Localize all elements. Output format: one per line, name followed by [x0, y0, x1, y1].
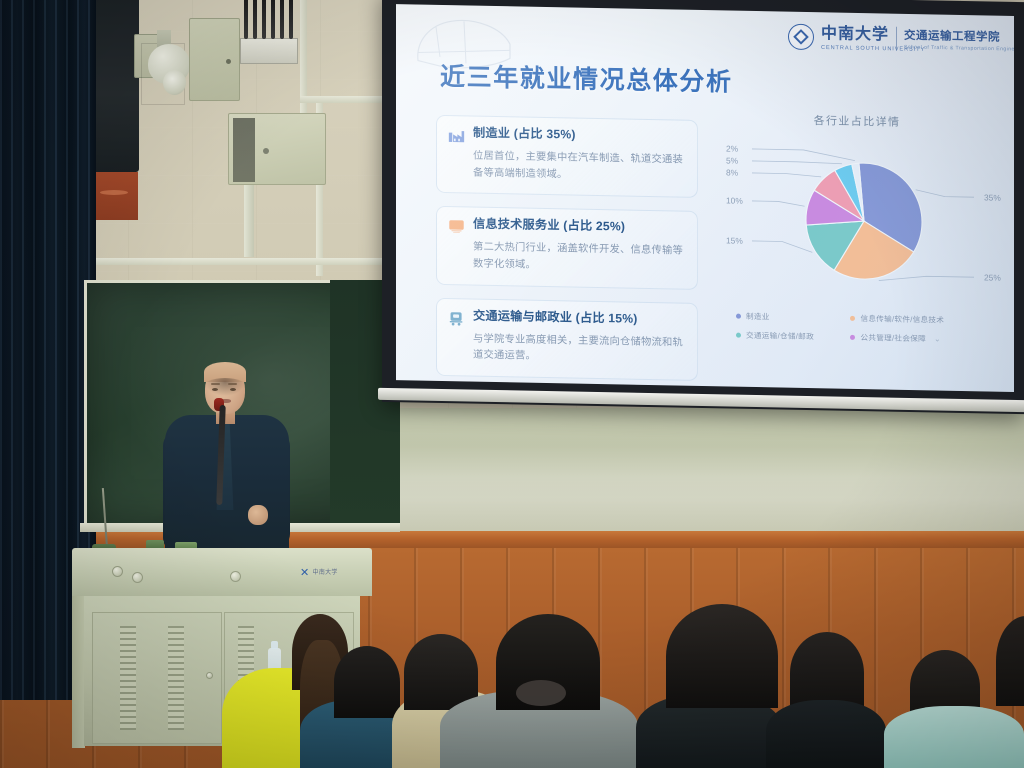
industry-card-list: 制造业 (占比 35%) 位居首位，主要集中在汽车制造、轨道交通装备等高端制造领…: [436, 115, 698, 392]
presenter-eye: [212, 388, 218, 391]
wall-speaker-cabinet: [92, 0, 139, 172]
logo-university-cn: 中南大学: [821, 26, 889, 44]
lecture-hall-scene: 中南大学 CENTRAL SOUTH UNIVERSITY 交通运输工程学院 S…: [0, 0, 1024, 768]
slide-title: 近三年就业情况总体分析: [440, 57, 733, 99]
presenter-eyebrow: [228, 383, 237, 385]
csu-emblem-icon: [788, 24, 814, 50]
latch-icon: [263, 148, 269, 154]
industry-card-desc: 第二大热门行业，涵盖软件开发、信息传输等数字化领域。: [473, 240, 686, 277]
antenna-icon: [262, 0, 266, 39]
monitor-icon: [448, 218, 465, 234]
pie-leader-line: [752, 201, 805, 206]
audience-member-neck: [516, 680, 566, 706]
industry-card[interactable]: 信息技术服务业 (占比 25%) 第二大热门行业，涵盖软件开发、信息传输等数字化…: [436, 206, 698, 289]
pie-leader-line: [752, 173, 821, 177]
pie-leader-line: [879, 275, 974, 282]
wall-frame-vertical: [300, 0, 307, 122]
chevron-down-icon[interactable]: ⌄: [934, 334, 941, 343]
pie-value-label: 5%: [726, 155, 739, 165]
conduit-pipe: [244, 185, 254, 257]
podium-knob[interactable]: [230, 571, 241, 582]
pie-leader-line: [752, 161, 842, 164]
wall-frame-horizontal: [84, 258, 414, 265]
audience-member-head: [404, 634, 478, 710]
pie-value-label: 8%: [726, 167, 739, 177]
industry-card-title: 信息技术服务业 (占比 25%): [473, 217, 625, 235]
pie-chart-svg: 35%25%15%10%8%5%2%: [712, 130, 1002, 318]
antenna-icon: [271, 0, 275, 39]
chart-title: 各行业占比详情: [712, 110, 1002, 132]
logo-school-cn: 交通运输工程学院: [904, 30, 1000, 44]
presenter-eyebrow: [211, 383, 220, 385]
legend-color-swatch: [736, 314, 741, 319]
industry-pie-chart: 各行业占比详情 35%25%15%10%8%5%2% 制造业信息传输/软件/信息…: [712, 110, 1002, 348]
legend-item[interactable]: 信息传输/软件/信息技术: [850, 313, 986, 327]
factory-icon: [448, 127, 465, 143]
podium-door-handle[interactable]: [206, 672, 213, 679]
audience-member-body: [766, 700, 886, 768]
pie-value-label: 10%: [726, 195, 743, 205]
pie-leader-line: [752, 241, 812, 252]
industry-card-desc: 与学院专业高度相关，主要流向仓储物流和轨道交通运营。: [473, 331, 686, 368]
antenna-icon: [244, 0, 248, 39]
camera-lens-icon: [163, 70, 186, 95]
audience-member-body: [884, 706, 1024, 768]
antenna-icon: [253, 0, 257, 39]
podium-brand-mark-icon: ✕: [300, 566, 310, 579]
legend-label: 交通运输/仓储/邮政: [746, 330, 814, 342]
upper-wall-green: [330, 408, 1024, 534]
truck-icon: [448, 310, 465, 326]
pie-value-label: 2%: [726, 143, 739, 153]
vent-slots: [120, 626, 136, 730]
pie-leader-line: [916, 190, 974, 197]
presenter-hair-shadow: [202, 378, 248, 398]
distribution-box: [228, 113, 326, 185]
electrical-cabinet: [189, 18, 240, 101]
signal-jammer-unit: [240, 38, 298, 64]
wall-speaker-grill: [92, 172, 138, 220]
presentation-slide: 中南大学 CENTRAL SOUTH UNIVERSITY 交通运输工程学院 S…: [396, 4, 1014, 392]
vent-slots: [168, 626, 184, 730]
pie-value-label: 25%: [984, 272, 1001, 282]
podium-cabinet-door[interactable]: [92, 612, 222, 744]
legend-color-swatch: [850, 316, 855, 321]
lock-icon: [226, 59, 231, 64]
legend-label: 制造业: [746, 311, 770, 322]
industry-card-title: 交通运输与邮政业 (占比 15%): [473, 308, 638, 326]
legend-item[interactable]: 交通运输/仓储/邮政: [736, 330, 844, 343]
legend-label: 信息传输/软件/信息技术: [860, 313, 944, 326]
university-logo: 中南大学 CENTRAL SOUTH UNIVERSITY 交通运输工程学院 S…: [788, 24, 1000, 54]
industry-card[interactable]: 制造业 (占比 35%) 位居首位，主要集中在汽车制造、轨道交通装备等高端制造领…: [436, 115, 698, 198]
industry-card-desc: 位居首位，主要集中在汽车制造、轨道交通装备等高端制造领域。: [473, 149, 686, 186]
presenter-eye: [230, 388, 236, 391]
legend-color-swatch: [736, 333, 741, 338]
antenna-icon: [280, 0, 284, 39]
podium-brand: ✕中南大学: [300, 566, 338, 579]
podium-knob[interactable]: [132, 572, 143, 583]
industry-card[interactable]: 交通运输与邮政业 (占比 15%) 与学院专业高度相关，主要流向仓储物流和轨道交…: [436, 298, 698, 381]
pie-value-label: 15%: [726, 235, 743, 245]
projection-screen: 中南大学 CENTRAL SOUTH UNIVERSITY 交通运输工程学院 S…: [382, 0, 1024, 414]
audience-member-head: [334, 646, 400, 718]
legend-label: 公共管理/社会保障: [860, 332, 926, 344]
pie-leader-line: [752, 149, 855, 161]
pie-value-label: 35%: [984, 192, 1001, 202]
legend-item[interactable]: 公共管理/社会保障⌄: [850, 332, 986, 346]
pie-slices[interactable]: [806, 162, 922, 280]
legend-item[interactable]: 制造业: [736, 311, 844, 324]
presenter-hand: [248, 505, 268, 525]
chart-legend[interactable]: 制造业信息传输/软件/信息技术交通运输/仓储/邮政公共管理/社会保障⌄: [736, 311, 986, 346]
podium-knob[interactable]: [112, 566, 123, 577]
audience-member-head: [666, 604, 778, 708]
podium-brand-text: 中南大学: [313, 570, 338, 576]
antenna-icon: [289, 0, 293, 39]
legend-color-swatch: [850, 335, 855, 340]
presenter-hand: [206, 494, 228, 516]
industry-card-title: 制造业 (占比 35%): [473, 126, 576, 143]
